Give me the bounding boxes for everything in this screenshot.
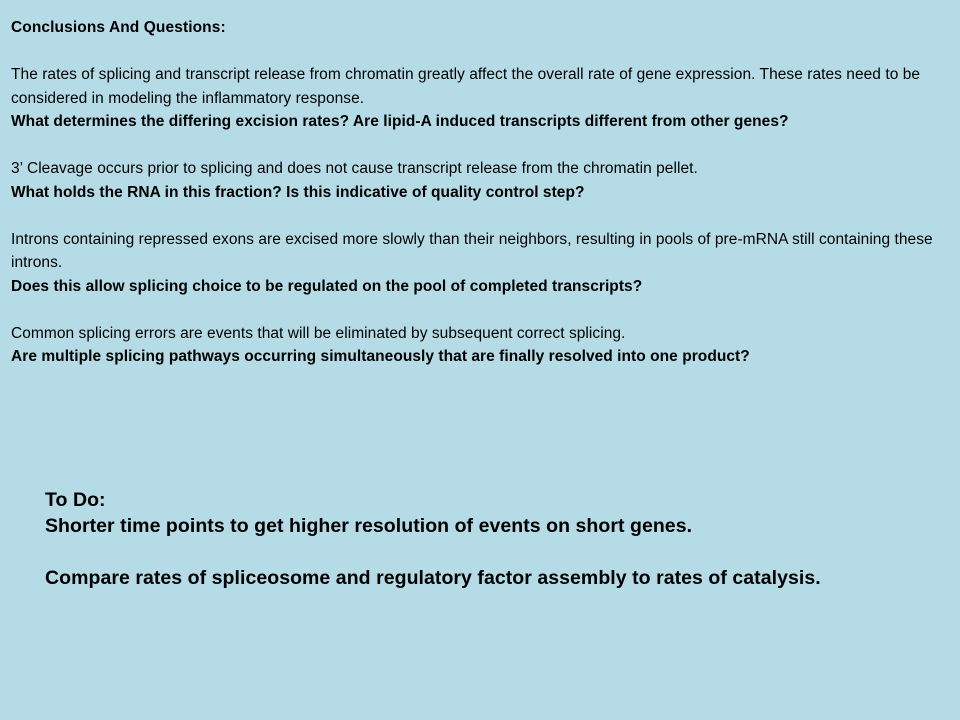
paragraph-4-question: Are multiple splicing pathways occurring… (11, 345, 949, 369)
page-title: Conclusions And Questions: (11, 16, 949, 40)
paragraph-1-statement: The rates of splicing and transcript rel… (11, 63, 949, 110)
conclusions-text-block: Conclusions And Questions: The rates of … (11, 16, 949, 369)
todo-item-2: Compare rates of spliceosome and regulat… (45, 565, 925, 591)
spacer-3 (11, 298, 949, 322)
paragraph-2-statement: 3’ Cleavage occurs prior to splicing and… (11, 157, 949, 181)
slide-canvas: Conclusions And Questions: The rates of … (0, 0, 960, 720)
paragraph-block-1: The rates of splicing and transcript rel… (11, 63, 949, 134)
spacer-2 (11, 204, 949, 228)
todo-spacer (45, 539, 925, 565)
paragraph-1-question: What determines the differing excision r… (11, 110, 949, 134)
spacer-1 (11, 134, 949, 158)
paragraph-block-3: Introns containing repressed exons are e… (11, 228, 949, 299)
paragraph-3-statement: Introns containing repressed exons are e… (11, 228, 949, 275)
paragraph-block-2: 3’ Cleavage occurs prior to splicing and… (11, 157, 949, 204)
todo-title: To Do: (45, 487, 925, 513)
spacer-after-title (11, 40, 949, 64)
paragraph-block-4: Common splicing errors are events that w… (11, 322, 949, 369)
paragraph-3-question: Does this allow splicing choice to be re… (11, 275, 949, 299)
todo-section: To Do: Shorter time points to get higher… (45, 487, 925, 591)
paragraph-4-statement: Common splicing errors are events that w… (11, 322, 949, 346)
paragraph-2-question: What holds the RNA in this fraction? Is … (11, 181, 949, 205)
todo-item-1: Shorter time points to get higher resolu… (45, 513, 925, 539)
